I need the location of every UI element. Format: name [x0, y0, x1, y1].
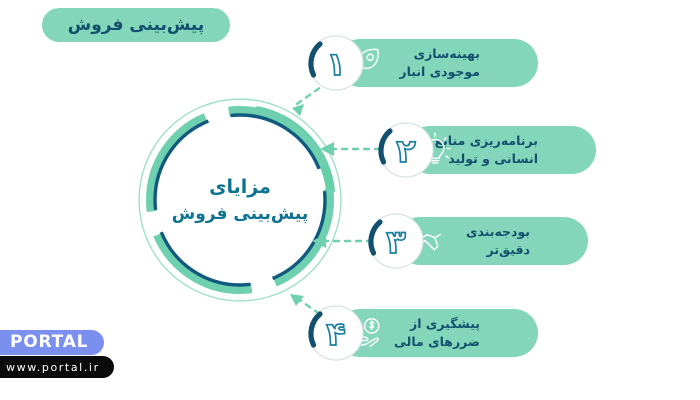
list-item[interactable]: برنامه‌ریزی منابع انسانی و تولید ۲ — [376, 120, 596, 180]
watermark-url-pill: www.portal.ir — [0, 356, 114, 378]
center-text-block: مزایای پیش‌بینی فروش — [136, 96, 344, 304]
item-label-3: بودجه‌بندی دقیق‌تر — [466, 223, 530, 259]
title-badge: پیش‌بینی فروش — [42, 8, 230, 42]
title-text: پیش‌بینی فروش — [68, 17, 204, 34]
item-number-badge-2: ۲ — [376, 120, 436, 180]
watermark-brand-text: PORTAL — [10, 334, 88, 351]
item-label-1: بهینه‌سازی موجودی انبار — [399, 45, 480, 81]
number-badge-svg-4: ۴ — [306, 303, 366, 363]
watermark: PORTAL www.portal.ir — [0, 330, 150, 382]
item-pill-4[interactable]: پیشگیری از ضررهای مالی — [336, 309, 538, 357]
item-number-1: ۱ — [326, 45, 346, 83]
infographic-canvas: پیش‌بینی فروش مزایای پیش‌بینی فروش — [0, 0, 700, 400]
center-line-1: مزایای — [209, 178, 271, 197]
center-line-2: پیش‌بینی فروش — [172, 206, 308, 223]
list-item[interactable]: بودجه‌بندی دقیق‌تر ۳ — [366, 211, 588, 271]
number-badge-svg-2: ۲ — [376, 120, 436, 180]
item-label-4: پیشگیری از ضررهای مالی — [394, 315, 480, 351]
list-item[interactable]: بهینه‌سازی موجودی انبار ۱ — [306, 33, 538, 93]
watermark-url-text: www.portal.ir — [6, 362, 100, 373]
item-number-2: ۲ — [396, 132, 416, 170]
item-number-badge-4: ۴ — [306, 303, 366, 363]
watermark-brand-pill: PORTAL — [0, 330, 104, 355]
item-number-4: ۴ — [326, 315, 346, 353]
center-circle-group: مزایای پیش‌بینی فروش — [136, 96, 344, 304]
item-number-badge-1: ۱ — [306, 33, 366, 93]
connector-arrow-2 — [312, 138, 384, 160]
item-pill-1[interactable]: بهینه‌سازی موجودی انبار — [336, 39, 538, 87]
list-item[interactable]: پیشگیری از ضررهای مالی ۴ — [306, 303, 538, 363]
number-badge-svg-1: ۱ — [306, 33, 366, 93]
item-number-badge-3: ۳ — [366, 211, 426, 271]
number-badge-svg-3: ۳ — [366, 211, 426, 271]
item-number-3: ۳ — [386, 223, 406, 261]
